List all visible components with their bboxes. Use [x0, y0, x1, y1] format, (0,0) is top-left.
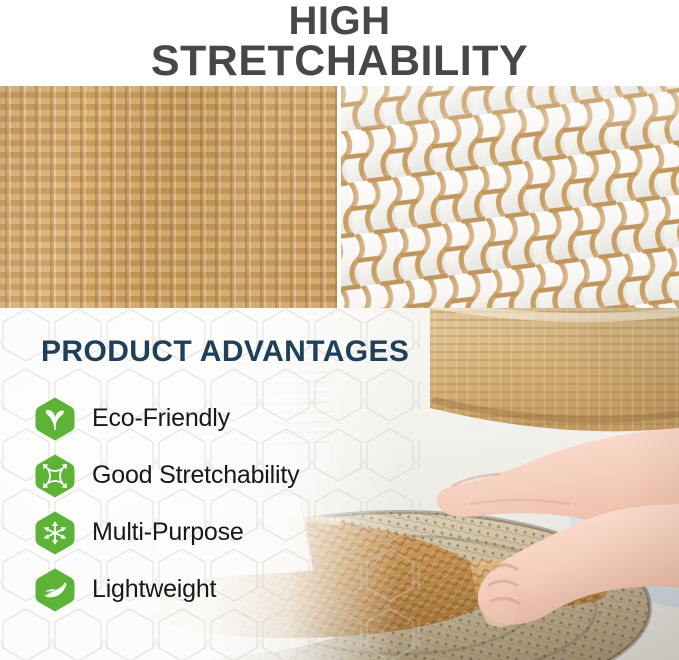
paper-sheen-overlay [0, 86, 337, 308]
list-item-label: Lightweight [92, 575, 216, 604]
page-title-product-advantages: PRODUCT ADVANTAGES [41, 335, 409, 369]
list-item-eco-friendly: Eco-Friendly [34, 390, 384, 447]
list-item-label: Good Stretchability [92, 461, 299, 490]
multi-direction-arrows-glyph [42, 520, 68, 546]
honeycomb-mesh-graphic [341, 86, 679, 308]
feather-icon [34, 567, 76, 613]
list-item-label: Eco-Friendly [92, 404, 230, 433]
list-item-label: Multi-Purpose [92, 518, 244, 547]
stretched-honeycomb-mesh-image [341, 86, 679, 308]
infographic-page: HIGH STRETCHABILITY [0, 0, 679, 660]
expand-arrows-icon [34, 453, 76, 499]
leaf-glyph [42, 406, 68, 432]
page-title-line-1: HIGH [0, 0, 679, 41]
leaf-icon [34, 396, 76, 442]
unstretched-honeycomb-paper-image [0, 86, 337, 308]
header-banner: HIGH STRETCHABILITY [0, 0, 679, 86]
advantages-list: Eco-Friendly [34, 390, 384, 618]
stretch-comparison-strip [0, 86, 679, 308]
feather-glyph [42, 577, 68, 603]
expand-arrows-glyph [42, 463, 68, 489]
list-item-multi-purpose: Multi-Purpose [34, 504, 384, 561]
list-item-good-stretchability: Good Stretchability [34, 447, 384, 504]
multi-direction-arrows-icon [34, 510, 76, 556]
page-title-line-2: STRETCHABILITY [0, 41, 679, 83]
list-item-lightweight: Lightweight [34, 561, 384, 618]
